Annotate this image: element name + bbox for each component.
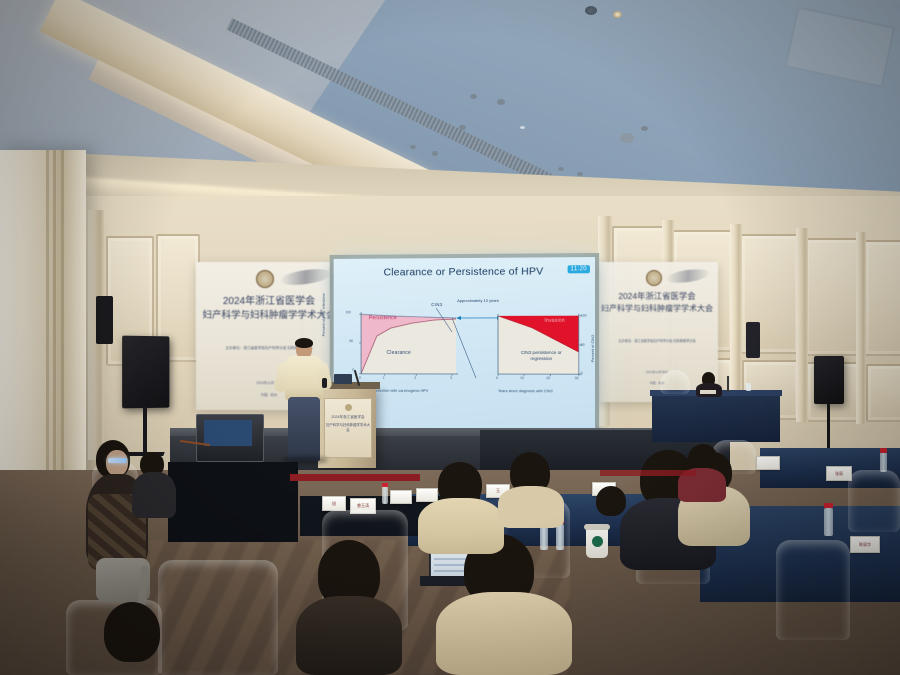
ceiling-downlight bbox=[577, 172, 583, 176]
coffee-cup-logo-icon bbox=[592, 536, 603, 547]
presenter-hair bbox=[295, 338, 313, 348]
pa-speaker-left-stand bbox=[143, 406, 147, 458]
right-ytick-0: 0 bbox=[581, 371, 583, 375]
presenter-hand-microphone bbox=[322, 378, 327, 388]
right-xtick-30: 30 bbox=[575, 376, 579, 380]
banner-right: 2024年浙江省医学会 妇产科学与妇科肿瘤学学术大会 主办单位：浙江省医学会妇产… bbox=[596, 262, 718, 402]
stage-front-red-trim bbox=[600, 470, 696, 476]
chair-cover bbox=[660, 370, 690, 394]
label-clearance: Clearance bbox=[387, 350, 411, 356]
podium-sign-line1: 2024年浙江省医学会 bbox=[325, 415, 371, 420]
right-xtick-10: 10 bbox=[520, 376, 524, 380]
label-cin3-persistence: CIN3 persistence or regression bbox=[510, 350, 573, 362]
banner-seal-icon bbox=[256, 270, 274, 288]
moderator-papers bbox=[700, 390, 716, 394]
head-table-microphone bbox=[727, 376, 729, 392]
left-ytick-100: 100 bbox=[345, 310, 351, 314]
banner-footer-date: 2024年11月 杭州 bbox=[596, 370, 718, 374]
right-xtick-20: 20 bbox=[546, 376, 550, 380]
left-xtick-2: 2 bbox=[414, 376, 416, 380]
pa-speaker-right bbox=[814, 356, 844, 404]
wall-panel bbox=[804, 238, 862, 356]
label-cin3: CIN3 bbox=[431, 302, 442, 307]
eyeglasses-icon bbox=[108, 458, 127, 463]
water-bottle bbox=[824, 508, 833, 536]
water-bottle bbox=[382, 486, 388, 504]
right-xaxis-label: Years since diagnosis with CIN3 bbox=[498, 389, 553, 393]
bottle-cap-icon bbox=[880, 448, 887, 453]
audience-torso bbox=[498, 486, 564, 528]
pa-speaker-left bbox=[122, 336, 169, 409]
slide-title: Clearance or Persistence of HPV bbox=[334, 265, 595, 279]
wall-mounted-speaker bbox=[96, 296, 113, 344]
ceiling-speaker bbox=[620, 133, 634, 143]
banner-title-line2: 妇产科学与妇科肿瘤学学术大会 bbox=[596, 303, 718, 314]
label-invasion: Invasion bbox=[544, 318, 564, 324]
stage-front-red-trim bbox=[290, 474, 420, 481]
name-card bbox=[756, 456, 780, 470]
right-ytick-100: 100 bbox=[581, 314, 587, 318]
audience-torso bbox=[132, 472, 176, 518]
banner-seal-icon bbox=[646, 270, 662, 286]
wall-mounted-speaker bbox=[746, 322, 760, 358]
banner-ink-motif bbox=[279, 266, 332, 287]
wall-pilaster bbox=[856, 232, 866, 424]
smoke-detector bbox=[470, 94, 477, 99]
podium-sign-line2: 妇产科学与妇科肿瘤学学术大会 bbox=[325, 422, 371, 432]
chair-cover bbox=[776, 540, 850, 640]
name-card: 陈丽华 bbox=[850, 536, 880, 553]
audience-torso bbox=[296, 596, 402, 675]
head-table bbox=[652, 394, 780, 442]
left-yaxis-label: Percent of HPV infections bbox=[322, 293, 326, 336]
banner-ink-motif bbox=[665, 267, 710, 285]
audience-table-left-dark bbox=[168, 462, 298, 542]
audience-head bbox=[104, 602, 160, 662]
chair-cover bbox=[848, 470, 900, 532]
presenter-trousers bbox=[288, 397, 320, 461]
podium-laptop bbox=[334, 374, 352, 384]
podium-sign-panel: 2024年浙江省医学会 妇产科学与妇科肿瘤学学术大会 bbox=[324, 398, 372, 458]
conference-room-photo: 2024年浙江省医学会 妇产科学与妇科肿瘤学学术大会 主办单位：浙江省医学会妇产… bbox=[0, 0, 900, 675]
left-xtick-1: 1 bbox=[383, 376, 385, 380]
coffee-cup-lid bbox=[584, 524, 610, 530]
water-bottle bbox=[880, 452, 887, 472]
wall-panel-lower bbox=[866, 364, 900, 422]
label-persistence: Persistence bbox=[369, 315, 397, 321]
audience-head bbox=[596, 486, 626, 516]
smoke-detector bbox=[410, 145, 416, 149]
audience-face bbox=[106, 450, 128, 476]
chart-right-panel bbox=[492, 297, 585, 384]
audience-torso bbox=[436, 592, 572, 675]
banner-title-line1: 2024年浙江省医学会 bbox=[596, 290, 718, 302]
audience-torso bbox=[418, 498, 504, 554]
name-card bbox=[390, 490, 412, 504]
head-table-water-glass bbox=[746, 383, 751, 391]
banner-subtitle-host: 主办单位：浙江省医学会妇产科学分会 妇科肿瘤学分会 bbox=[596, 338, 718, 343]
right-xtick-0: 0 bbox=[496, 376, 498, 380]
smoke-detector bbox=[459, 125, 466, 130]
ceiling-sprinkler bbox=[520, 126, 525, 129]
wall-panel bbox=[864, 240, 900, 356]
wall-pilaster bbox=[796, 228, 808, 422]
bottle-cap-icon bbox=[382, 483, 388, 487]
name-card bbox=[416, 488, 438, 502]
banner-subtitle-host: 主办单位：浙江省医学会妇产科学分会 妇科肿瘤学分会 bbox=[196, 346, 342, 351]
av-rack-case bbox=[204, 420, 252, 446]
right-ytick-50: 50 bbox=[581, 343, 585, 347]
bottle-cap-icon bbox=[824, 503, 833, 508]
slide-clock-badge: 11:20 bbox=[568, 265, 590, 273]
ceiling-downlight bbox=[585, 6, 597, 15]
ceiling-spotlight bbox=[613, 11, 622, 18]
banner-title-line1: 2024年浙江省医学会 bbox=[196, 292, 342, 307]
ceiling-downlight bbox=[558, 167, 564, 171]
smoke-detector bbox=[432, 151, 438, 156]
ceiling-sprinkler bbox=[641, 126, 648, 131]
chair-cover bbox=[158, 560, 278, 675]
smoke-detector bbox=[497, 99, 505, 105]
left-xtick-0: 0 bbox=[359, 376, 361, 380]
podium-seal-icon bbox=[345, 404, 352, 411]
right-yaxis-label: Percent of CIN3 bbox=[591, 335, 595, 362]
banner-title-line2: 妇产科学与妇科肿瘤学学术大会 bbox=[196, 307, 342, 321]
name-card: 旭 bbox=[322, 496, 346, 511]
pa-speaker-right-stand bbox=[827, 402, 830, 454]
left-ytick-50: 50 bbox=[349, 339, 353, 343]
